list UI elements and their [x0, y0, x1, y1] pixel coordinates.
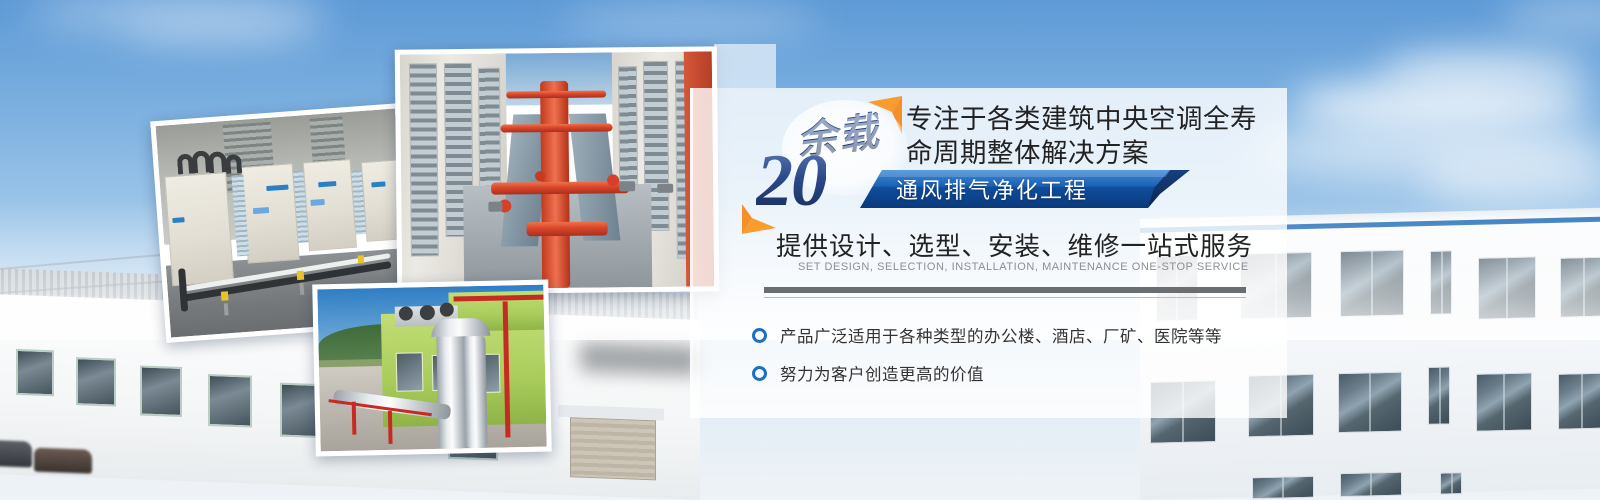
photo-red-branch: [500, 123, 612, 132]
photo-red-branch: [506, 90, 606, 98]
subhead-english: SET DESIGN, SELECTION, INSTALLATION, MAI…: [798, 261, 1268, 273]
bullet-text: 产品广泛适用于各种类型的办公楼、酒店、厂矿、医院等等: [780, 323, 1222, 347]
list-item: 努力为客户创造更高的价值: [752, 354, 1272, 392]
photo-pipe-flange: [657, 183, 673, 192]
building-window: [1558, 373, 1600, 430]
cloud-shape: [1380, 48, 1590, 94]
photo-pipe-flange: [489, 202, 503, 212]
photo-valve-handwheel: [535, 171, 545, 181]
headline: 专注于各类建筑中央空调全寿命周期整体解决方案: [906, 103, 1276, 171]
building-window: [1252, 476, 1314, 500]
building-window: [76, 357, 116, 406]
photo-insulated-duct: [463, 334, 488, 448]
photo-pipe-marker: [296, 270, 304, 279]
building-window: [140, 365, 182, 417]
photo-condenser-unit: [164, 172, 234, 287]
background-blur-patch: [580, 342, 700, 376]
building-window: [1476, 372, 1532, 431]
hvac-promo-banner: 余载 20 专注于各类建筑中央空调全寿命周期整体解决方案: [0, 0, 1600, 500]
building-window: [1428, 366, 1450, 425]
cloud-shape: [120, 16, 320, 46]
photo-red-support: [351, 402, 356, 434]
divider-thin: [764, 297, 1246, 298]
years-number-label: 20: [756, 144, 826, 218]
building-window: [1440, 472, 1462, 495]
parked-car: [34, 448, 92, 474]
photo-rooftop-duct: [312, 280, 552, 457]
ribbon-banner: 通风排气净化工程: [860, 170, 1190, 208]
building-window: [1340, 472, 1402, 498]
photo-vent-panel: [618, 66, 638, 198]
cloud-shape: [1500, 0, 1600, 30]
garage-door: [570, 417, 656, 480]
photo-pipe-support: [224, 304, 229, 316]
subhead-chinese: 提供设计、选型、安装、维修一站式服务: [776, 226, 1276, 263]
circle-ring-icon: [752, 328, 767, 343]
photo-brand-badge: [310, 199, 324, 206]
photo-refrigerant-hose: [225, 154, 242, 174]
panel-left-edge: [690, 88, 693, 418]
years-badge: 余载 20: [756, 100, 916, 230]
parked-car: [0, 439, 32, 467]
bullet-text: 努力为客户创造更高的价值: [780, 361, 984, 385]
photo-vent-panel: [409, 64, 439, 257]
photo-duct-elbow: [431, 318, 490, 337]
photo-red-branch: [526, 222, 607, 237]
building-window: [16, 349, 54, 396]
photo-pipe-flange: [620, 181, 636, 191]
photo-window: [395, 352, 423, 391]
photo-pipe-support: [299, 283, 304, 295]
building-window: [208, 374, 252, 428]
photo-condenser-unit: [240, 163, 300, 264]
building-window: [1338, 372, 1402, 434]
list-item: 产品广泛适用于各种类型的办公楼、酒店、厂矿、医院等等: [752, 316, 1272, 354]
photo-red-support: [388, 411, 393, 443]
bullet-list: 产品广泛适用于各种类型的办公楼、酒店、厂矿、医院等等 努力为客户创造更高的价值: [752, 316, 1272, 392]
ribbon-label: 通风排气净化工程: [896, 170, 1190, 208]
photo-pipe-marker: [221, 291, 229, 300]
photo-fan: [419, 305, 434, 320]
photo-pipe-marker: [358, 255, 365, 263]
photo-brand-badge: [253, 207, 269, 214]
photo-chiller-piping: [395, 46, 720, 294]
cloud-shape: [560, 4, 820, 38]
divider-thick: [764, 287, 1246, 293]
panel-accent-rectangle: [714, 44, 776, 88]
circle-ring-icon: [752, 366, 767, 381]
